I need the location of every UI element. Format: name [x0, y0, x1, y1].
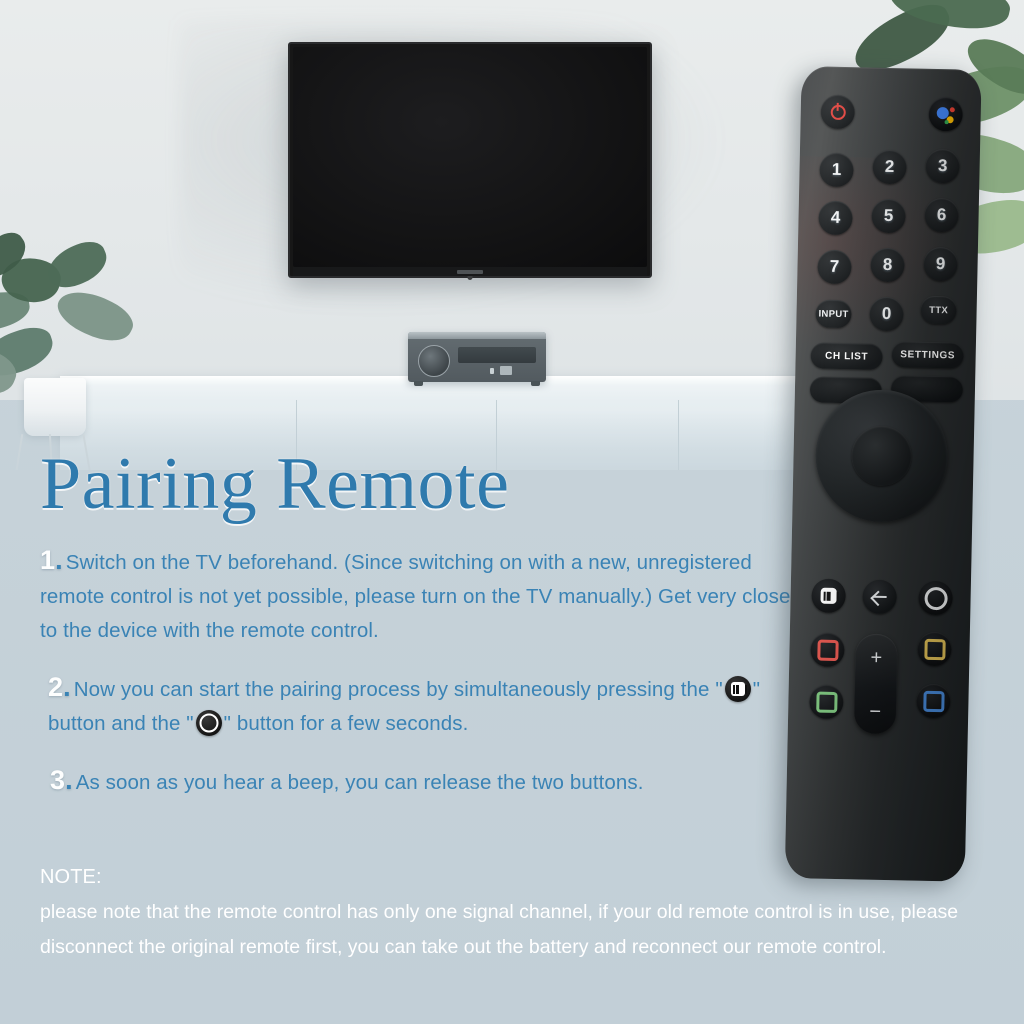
mi-button[interactable]	[811, 578, 846, 613]
av-receiver-indicator	[490, 368, 494, 374]
remote-control: 1 2 3 4 5 6 7 8 9 INPUT 0 TTX CH LIST SE…	[785, 66, 982, 882]
page-title: Pairing Remote	[40, 446, 509, 522]
assistant-circle-button[interactable]	[918, 581, 953, 616]
mi-logo-icon	[820, 588, 836, 604]
step-1-paragraph: 1.Switch on the TV beforehand. (Since sw…	[40, 543, 810, 648]
step-3-paragraph: 3.As soon as you hear a beep, you can re…	[50, 763, 810, 800]
assistant-circle-icon	[924, 586, 947, 609]
av-receiver	[408, 332, 546, 382]
potted-plant-left	[0, 236, 152, 436]
step-2-text-before: Now you can start the pairing process by…	[74, 678, 723, 701]
step-2: 2.Now you can start the pairing process …	[40, 670, 810, 741]
instruction-steps: 1.Switch on the TV beforehand. (Since sw…	[40, 543, 810, 822]
ch-list-button[interactable]: CH LIST	[810, 342, 883, 370]
pairing-remote-infographic: Pairing Remote 1.Switch on the TV before…	[0, 0, 1024, 1024]
app-red-icon	[817, 639, 838, 660]
step-3-text: As soon as you hear a beep, you can rele…	[76, 771, 644, 794]
av-receiver-foot	[531, 381, 540, 386]
app-green-icon	[816, 691, 837, 712]
mi-button-icon	[725, 676, 751, 702]
volume-down-button[interactable]: −	[869, 702, 881, 722]
plant-leaf	[51, 281, 139, 351]
back-button[interactable]	[862, 580, 897, 615]
step-1: 1.Switch on the TV beforehand. (Since sw…	[40, 543, 810, 648]
input-button[interactable]: INPUT	[815, 299, 852, 328]
step-3-number: 3.	[50, 765, 73, 795]
settings-button[interactable]: SETTINGS	[891, 341, 964, 369]
av-receiver-dial	[418, 345, 450, 377]
google-assistant-icon	[936, 104, 955, 123]
navigation-dpad[interactable]	[814, 389, 949, 524]
av-receiver-top	[408, 332, 546, 339]
app-yellow-icon	[924, 638, 945, 659]
power-icon	[830, 104, 845, 119]
assistant-circle-icon	[196, 710, 222, 736]
volume-rocker[interactable]: + −	[854, 633, 898, 734]
step-2-number: 2.	[48, 672, 71, 702]
power-button[interactable]	[820, 95, 855, 130]
wall-mounted-tv	[288, 42, 652, 278]
volume-up-button[interactable]: +	[870, 648, 882, 668]
app-button-yellow[interactable]	[917, 632, 952, 667]
ok-button[interactable]	[851, 425, 912, 486]
back-arrow-icon	[871, 589, 887, 605]
step-3: 3.As soon as you hear a beep, you can re…	[40, 763, 810, 800]
av-receiver-badge	[500, 366, 512, 375]
tv-screen	[293, 47, 647, 267]
google-assistant-button[interactable]	[928, 97, 963, 132]
ttx-button[interactable]: TTX	[920, 296, 957, 325]
tv-logo	[457, 270, 483, 274]
app-blue-icon	[923, 690, 944, 711]
av-receiver-slot	[458, 347, 536, 363]
app-button-red[interactable]	[810, 632, 845, 667]
step-2-paragraph: 2.Now you can start the pairing process …	[48, 670, 810, 741]
av-receiver-foot	[414, 381, 423, 386]
step-2-text-after: " button for a few seconds.	[224, 712, 469, 735]
note-body: please note that the remote control has …	[40, 895, 990, 965]
step-1-number: 1.	[40, 545, 63, 575]
step-1-text: Switch on the TV beforehand. (Since swit…	[40, 551, 790, 642]
app-button-blue[interactable]	[916, 684, 951, 719]
app-button-green[interactable]	[809, 684, 844, 719]
